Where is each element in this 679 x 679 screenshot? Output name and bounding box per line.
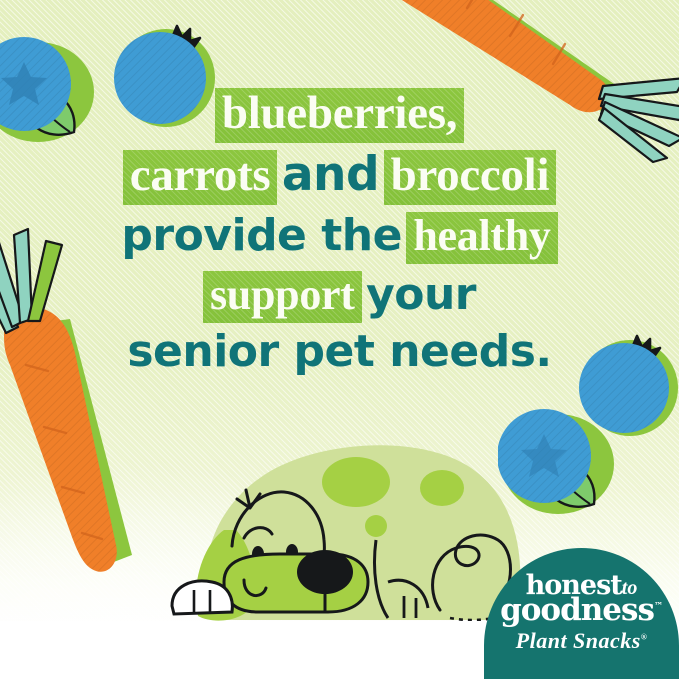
product-lifestyle-graphic: blueberries, carrots and broccoli provid… — [0, 0, 679, 679]
headline-word-blueberries: blueberries, — [215, 88, 464, 143]
headline-word-broccoli: broccoli — [384, 150, 557, 205]
trademark-symbol: ™ — [654, 602, 663, 612]
headline-word-your: your — [366, 273, 476, 317]
headline-word-support: support — [203, 271, 362, 323]
senior-dog-illustration — [120, 430, 540, 630]
headline-line-4: support your — [0, 271, 679, 323]
headline-words-senior-pet-needs: senior pet needs. — [127, 330, 551, 374]
registered-symbol: ® — [641, 633, 647, 642]
headline-word-healthy: healthy — [406, 212, 557, 264]
logo-line-goodness: goodness™ — [484, 595, 679, 626]
headline-word-and: and — [282, 151, 379, 198]
logo-text-plant-snacks: Plant Snacks — [516, 628, 641, 653]
headline-block: blueberries, carrots and broccoli provid… — [0, 88, 679, 374]
headline-line-3: provide the healthy — [0, 212, 679, 264]
logo-text-goodness: goodness — [500, 592, 654, 628]
headline-line-2: carrots and broccoli — [0, 150, 679, 205]
headline-word-carrots: carrots — [123, 150, 278, 205]
headline-line-1: blueberries, — [0, 88, 679, 143]
logo-tagline: Plant Snacks® — [484, 630, 679, 652]
headline-line-5: senior pet needs. — [0, 330, 679, 374]
headline-words-provide-the: provide the — [121, 214, 402, 258]
